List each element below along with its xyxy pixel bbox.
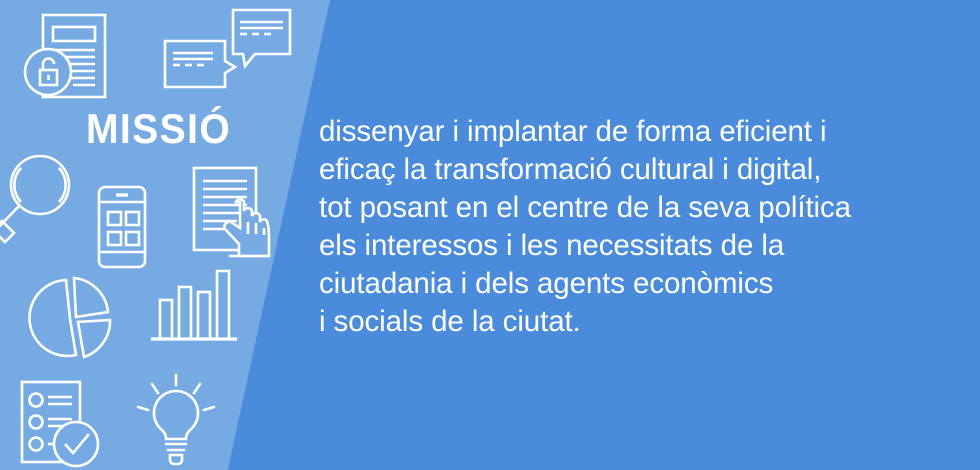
- mission-line: dissenyar i implantar de forma eficient …: [319, 113, 919, 151]
- document-hand-icon: [182, 162, 292, 272]
- bar-chart-icon: [146, 266, 242, 348]
- lightbulb-icon: [126, 372, 226, 470]
- page-title: MISSIÓ: [86, 108, 231, 150]
- mission-line: eficaç la transformació cultural i digit…: [319, 151, 919, 189]
- pie-chart-icon: [24, 272, 120, 364]
- speech-bubbles-icon: [155, 4, 305, 94]
- mission-line: tot posant en el centre de la seva polít…: [319, 189, 919, 227]
- mission-statement: dissenyar i implantar de forma eficient …: [319, 113, 919, 341]
- mission-line: els interessos i les necessitats de la: [319, 227, 919, 265]
- mission-banner: MISSIÓ dissenyar i implantar de forma ef…: [0, 0, 980, 470]
- magnifying-glass-icon: [0, 148, 88, 248]
- checklist-icon: [10, 372, 110, 470]
- mission-line: i socials de la ciutat.: [319, 303, 919, 341]
- document-lock-icon: [22, 10, 132, 110]
- decorative-icon-layer: [0, 0, 330, 470]
- mission-line: ciutadania i dels agents econòmics: [319, 265, 919, 303]
- smartphone-icon: [87, 180, 157, 274]
